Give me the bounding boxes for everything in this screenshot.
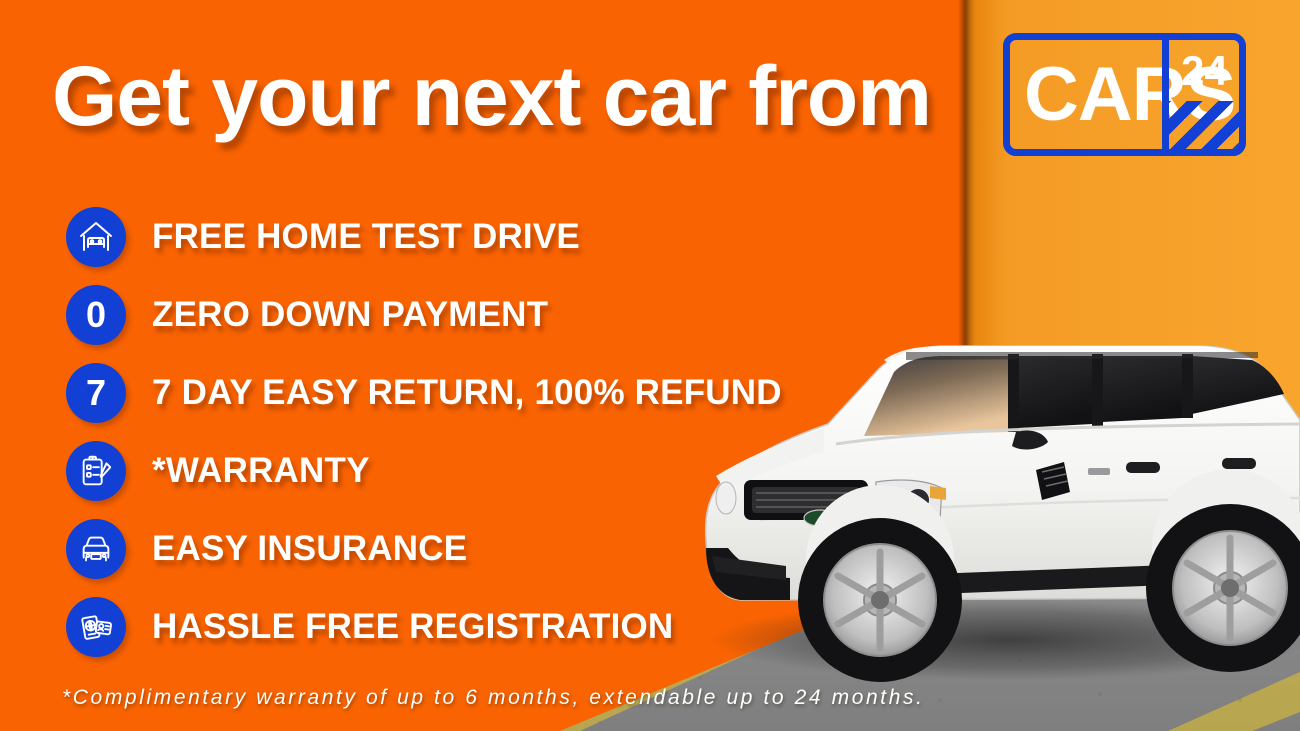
feature-list: FREE HOME TEST DRIVE 0 ZERO DOWN PAYMENT…: [66, 198, 946, 666]
feature-label: EASY INSURANCE: [152, 529, 467, 569]
car-front-icon: [66, 519, 126, 579]
feature-label: 7 DAY EASY RETURN, 100% REFUND: [152, 373, 782, 413]
zero-digit-icon: 0: [66, 285, 126, 345]
feature-label: *WARRANTY: [152, 451, 370, 491]
feature-item-hassle-free-registration: HASSLE FREE REGISTRATION: [66, 588, 946, 666]
cars24-promo-banner: Get your next car from CARS 24: [0, 0, 1300, 731]
feature-label: HASSLE FREE REGISTRATION: [152, 607, 673, 647]
feature-label: ZERO DOWN PAYMENT: [152, 295, 548, 335]
feature-label: FREE HOME TEST DRIVE: [152, 217, 580, 257]
logo-diagonal-stripes: [1169, 101, 1239, 149]
badge-number: 0: [86, 297, 106, 333]
warranty-footnote: *Complimentary warranty of up to 6 month…: [62, 686, 925, 710]
logo-divider: [1162, 40, 1169, 149]
clipboard-pen-icon: [66, 441, 126, 501]
headline: Get your next car from: [52, 54, 952, 140]
feature-item-7-day-easy-return: 7 7 DAY EASY RETURN, 100% REFUND: [66, 354, 946, 432]
documents-id-icon: [66, 597, 126, 657]
feature-item-free-home-test-drive: FREE HOME TEST DRIVE: [66, 198, 946, 276]
seven-digit-icon: 7: [66, 363, 126, 423]
feature-item-easy-insurance: EASY INSURANCE: [66, 510, 946, 588]
feature-item-warranty: *WARRANTY: [66, 432, 946, 510]
logo-number: 24: [1181, 50, 1228, 92]
badge-number: 7: [86, 375, 106, 411]
feature-item-zero-down-payment: 0 ZERO DOWN PAYMENT: [66, 276, 946, 354]
cars24-logo[interactable]: CARS 24: [1003, 33, 1246, 156]
home-garage-car-icon: [66, 207, 126, 267]
